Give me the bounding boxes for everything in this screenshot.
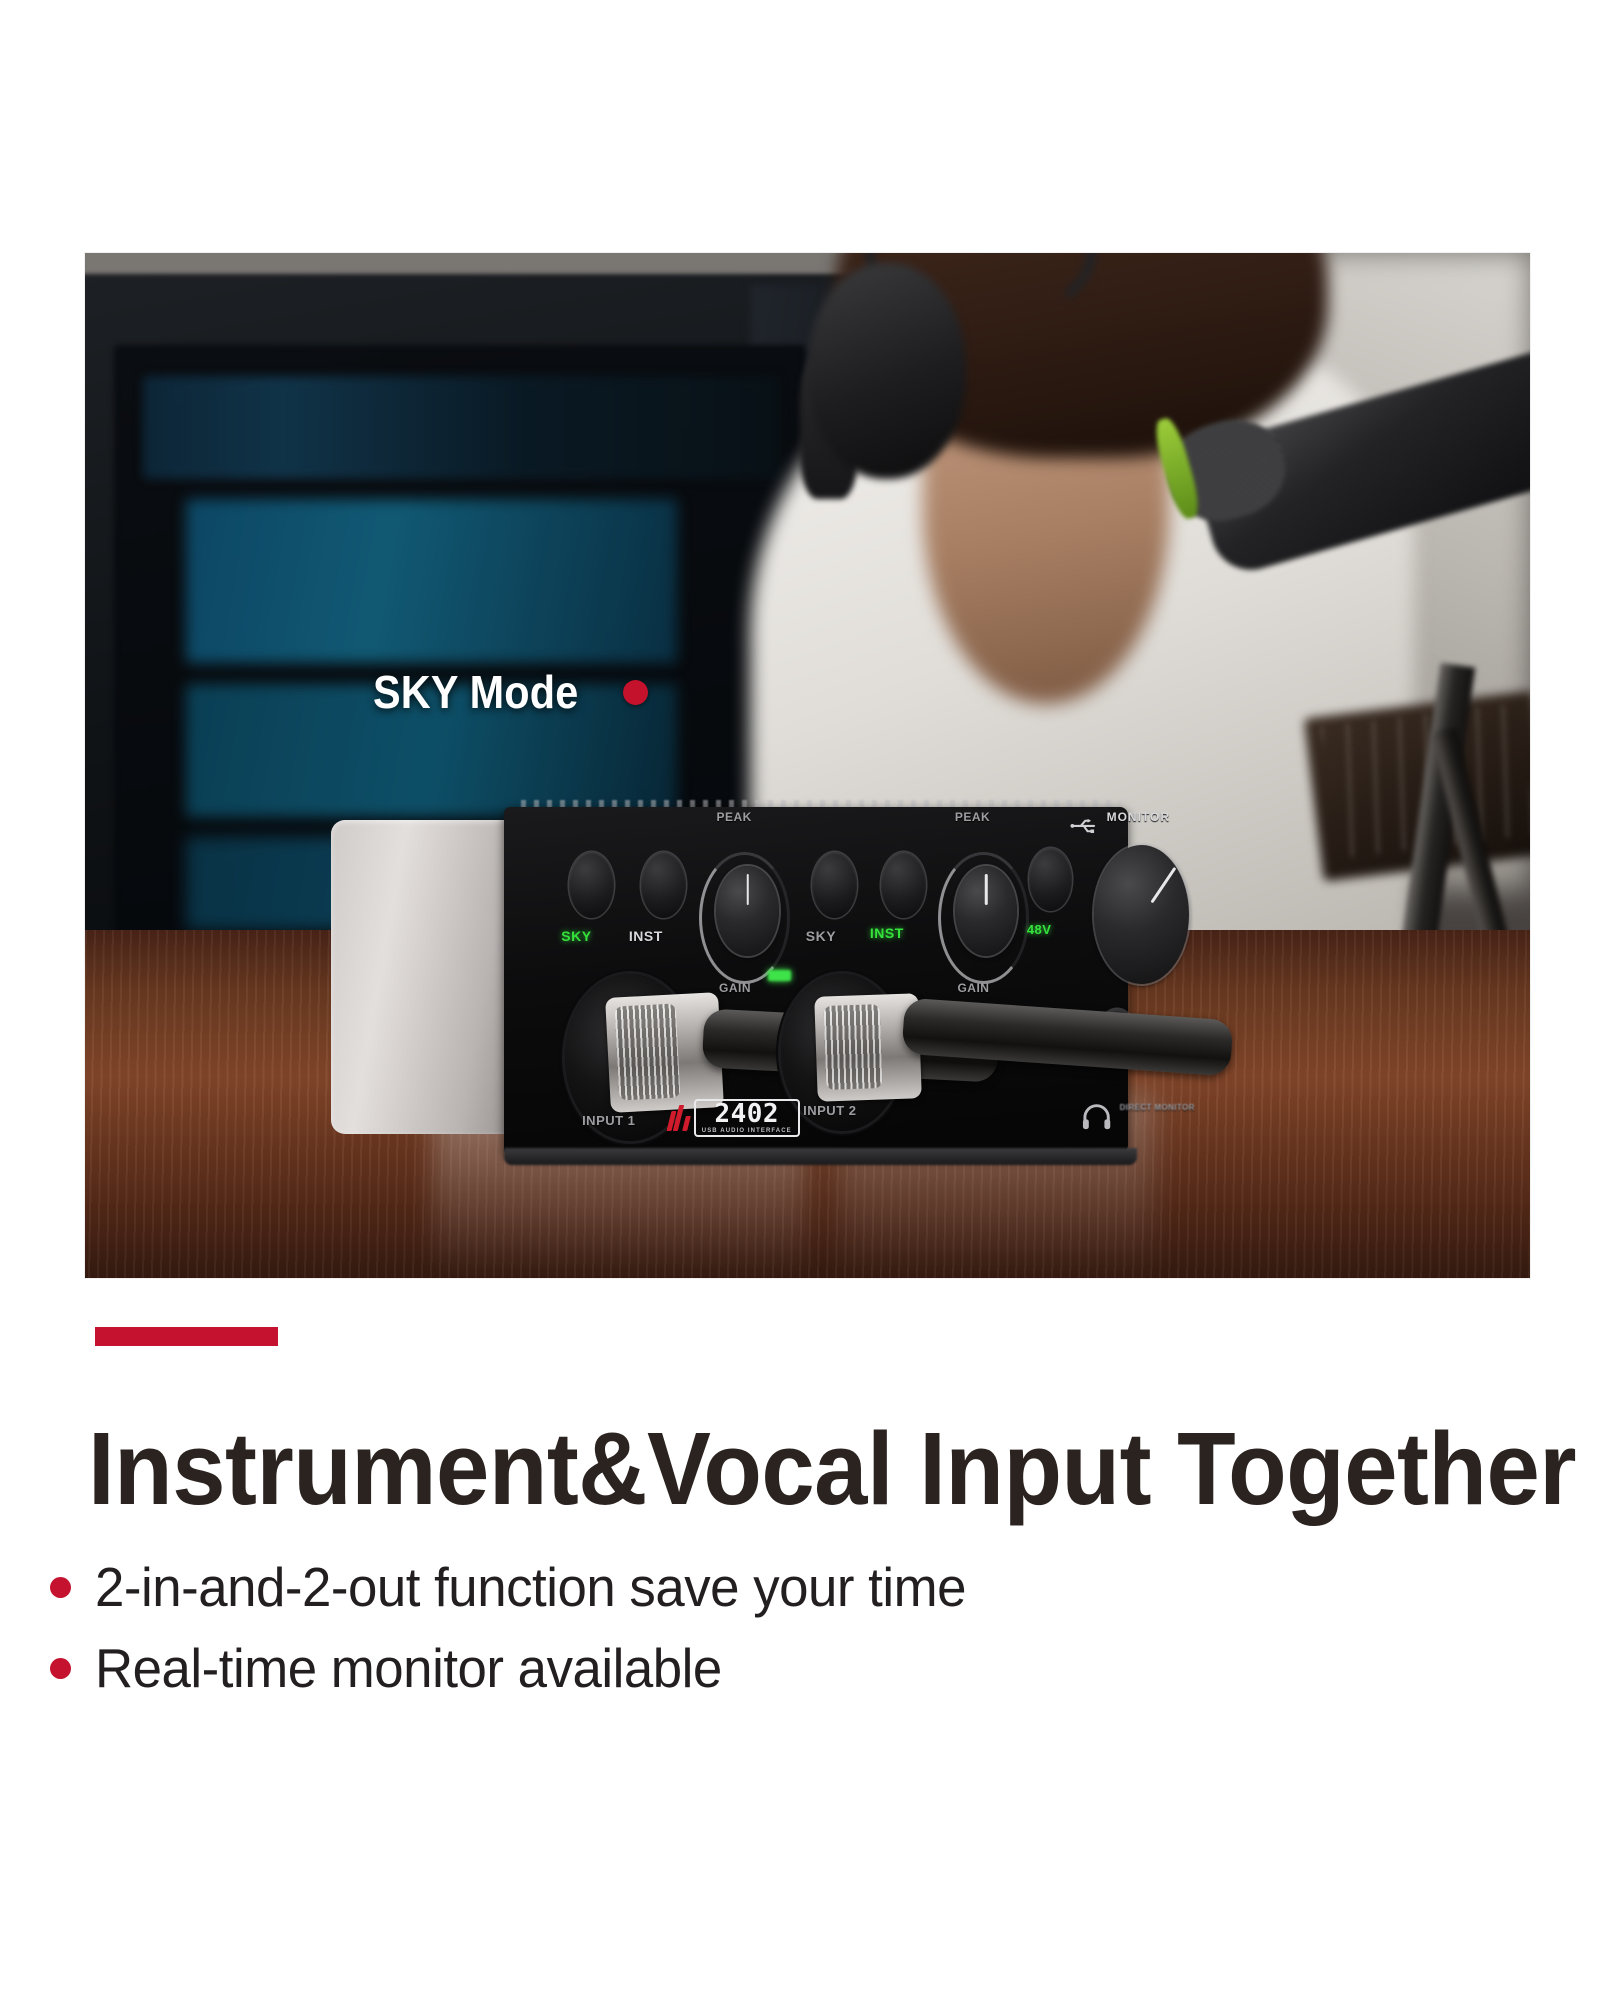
sky-mode-label: SKY Mode xyxy=(373,669,578,715)
device-bottom-lip xyxy=(504,1148,1137,1165)
sky-button-ch1[interactable] xyxy=(569,852,614,918)
phantom-power-48v-button[interactable] xyxy=(1029,848,1072,911)
gain-knob-pointer-ch2 xyxy=(985,874,988,905)
xlr-connector-2-ribs xyxy=(823,1004,882,1090)
product-number-plate: 2402 USB AUDIO INTERFACE xyxy=(694,1099,800,1137)
feature-list: 2-in-and-2-out function save your time R… xyxy=(50,1555,1500,1717)
page-title: Instrument&Vocal Input Together xyxy=(88,1417,1427,1520)
product-feature-page: SKY INST PEAK GAIN SKY INST PEAK GAIN 48… xyxy=(0,0,1600,2000)
label-monitor: MONITOR xyxy=(1107,810,1170,824)
daw-track-1 xyxy=(186,499,677,663)
label-direct-monitor: DIRECT MONITOR xyxy=(1120,1103,1195,1112)
list-item: Real-time monitor available xyxy=(50,1636,1500,1701)
feature-text: Real-time monitor available xyxy=(95,1636,722,1701)
product-hero-photo: SKY INST PEAK GAIN SKY INST PEAK GAIN 48… xyxy=(85,253,1530,1278)
inst-button-ch2[interactable] xyxy=(881,852,926,918)
product-subtitle: USB AUDIO INTERFACE xyxy=(702,1128,792,1134)
label-peak-ch2: PEAK xyxy=(955,810,990,824)
product-logo: 2402 USB AUDIO INTERFACE xyxy=(669,1099,800,1137)
bullet-dot-icon xyxy=(50,1577,71,1598)
inst-button-ch1[interactable] xyxy=(641,852,686,918)
sky-mode-caption: SKY Mode xyxy=(373,669,648,715)
gain-knob-ch2[interactable] xyxy=(955,866,1017,957)
label-inst-ch1: INST xyxy=(629,928,663,944)
xlr-connector-1-ribs xyxy=(614,1004,680,1101)
label-gain-ch1: GAIN xyxy=(719,981,751,995)
signal-led xyxy=(768,970,791,981)
sky-button-ch2[interactable] xyxy=(812,852,857,918)
label-gain-ch2: GAIN xyxy=(957,981,989,995)
label-peak-ch1: PEAK xyxy=(716,810,751,824)
headphone-icon xyxy=(1081,1099,1112,1134)
brand-mark-icon xyxy=(669,1105,689,1131)
product-number: 2402 xyxy=(714,1103,779,1127)
usb-audio-interface: SKY INST PEAK GAIN SKY INST PEAK GAIN 48… xyxy=(331,807,1198,1156)
headphone-earcup xyxy=(808,263,967,478)
list-item: 2-in-and-2-out function save your time xyxy=(50,1555,1500,1620)
daw-toolbar xyxy=(143,376,779,479)
label-sky-ch1: SKY xyxy=(561,928,591,944)
label-48v: 48V xyxy=(1027,922,1052,937)
accent-bar xyxy=(95,1327,278,1346)
label-inst-ch2: INST xyxy=(870,925,904,941)
usb-icon xyxy=(1069,812,1098,840)
gain-knob-ch1[interactable] xyxy=(716,866,778,957)
monitor-volume-knob[interactable] xyxy=(1094,845,1189,984)
device-side-panel xyxy=(331,820,530,1134)
gain-knob-pointer-ch1 xyxy=(746,874,749,905)
label-sky-ch2: SKY xyxy=(806,928,836,944)
label-input-1: INPUT 1 xyxy=(582,1113,635,1128)
feature-text: 2-in-and-2-out function save your time xyxy=(95,1555,966,1620)
label-input-2: INPUT 2 xyxy=(803,1103,856,1118)
red-dot-icon xyxy=(623,680,648,705)
bullet-dot-icon xyxy=(50,1658,71,1679)
monitor-knob-pointer xyxy=(1151,867,1176,903)
